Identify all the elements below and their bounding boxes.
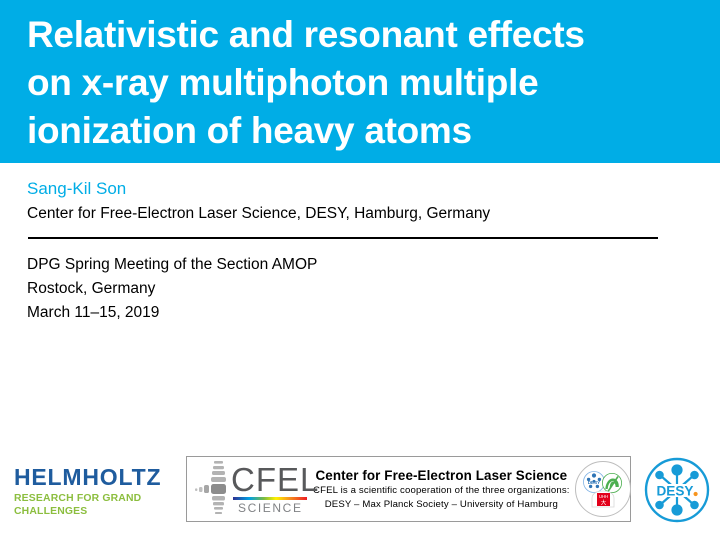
title-banner: Relativistic and resonant effects on x-r… (0, 0, 720, 163)
cfel-subtitle-line-1: CFEL is a scientific cooperation of the … (313, 484, 570, 498)
desy-logo: DESY (644, 457, 710, 523)
page-title-line-1: Relativistic and resonant effects (27, 11, 700, 59)
cfel-science-label: SCIENCE (238, 501, 303, 515)
event-name: DPG Spring Meeting of the Section AMOP (27, 253, 687, 277)
event-date: March 11–15, 2019 (27, 301, 687, 325)
svg-text:UHH: UHH (599, 494, 608, 499)
author-block: Sang-Kil Son Center for Free-Electron La… (27, 178, 687, 224)
svg-text:DESY: DESY (587, 480, 600, 485)
page-title-line-2: on x-ray multiphoton multiple (27, 59, 700, 107)
cfel-partner-logos-icon: DESY UHH 大 (574, 460, 632, 518)
cfel-spectrum-bar (233, 497, 307, 500)
cfel-logo-mark: CFEL SCIENCE (193, 459, 311, 519)
helmholtz-wordmark: HELMHOLTZ (14, 465, 182, 490)
author-affiliation: Center for Free-Electron Laser Science, … (27, 203, 687, 224)
cfel-partner-logos: DESY UHH 大 (574, 460, 632, 518)
cfel-logo-box: CFEL SCIENCE Center for Free-Electron La… (186, 456, 631, 522)
horizontal-divider (28, 237, 658, 239)
author-name: Sang-Kil Son (27, 178, 687, 200)
event-location: Rostock, Germany (27, 277, 687, 301)
desy-wordmark: DESY (656, 483, 693, 498)
helmholtz-logo: HELMHOLTZ RESEARCH FOR GRAND CHALLENGES (14, 465, 182, 518)
cfel-pulse-icon (193, 459, 233, 519)
helmholtz-tagline: RESEARCH FOR GRAND CHALLENGES (14, 492, 182, 518)
cfel-heading: Center for Free-Electron Laser Science (313, 467, 570, 484)
cfel-subtitle-line-2: DESY – Max Planck Society – University o… (313, 498, 570, 512)
cfel-wordmark: CFEL (231, 463, 319, 496)
footer-logo-bar: HELMHOLTZ RESEARCH FOR GRAND CHALLENGES (0, 440, 720, 540)
event-block: DPG Spring Meeting of the Section AMOP R… (27, 253, 687, 325)
cfel-text-block: Center for Free-Electron Laser Science C… (311, 467, 574, 512)
page-title-line-3: ionization of heavy atoms (27, 107, 700, 155)
svg-text:大: 大 (600, 498, 606, 506)
desy-logo-icon: DESY (644, 457, 710, 523)
